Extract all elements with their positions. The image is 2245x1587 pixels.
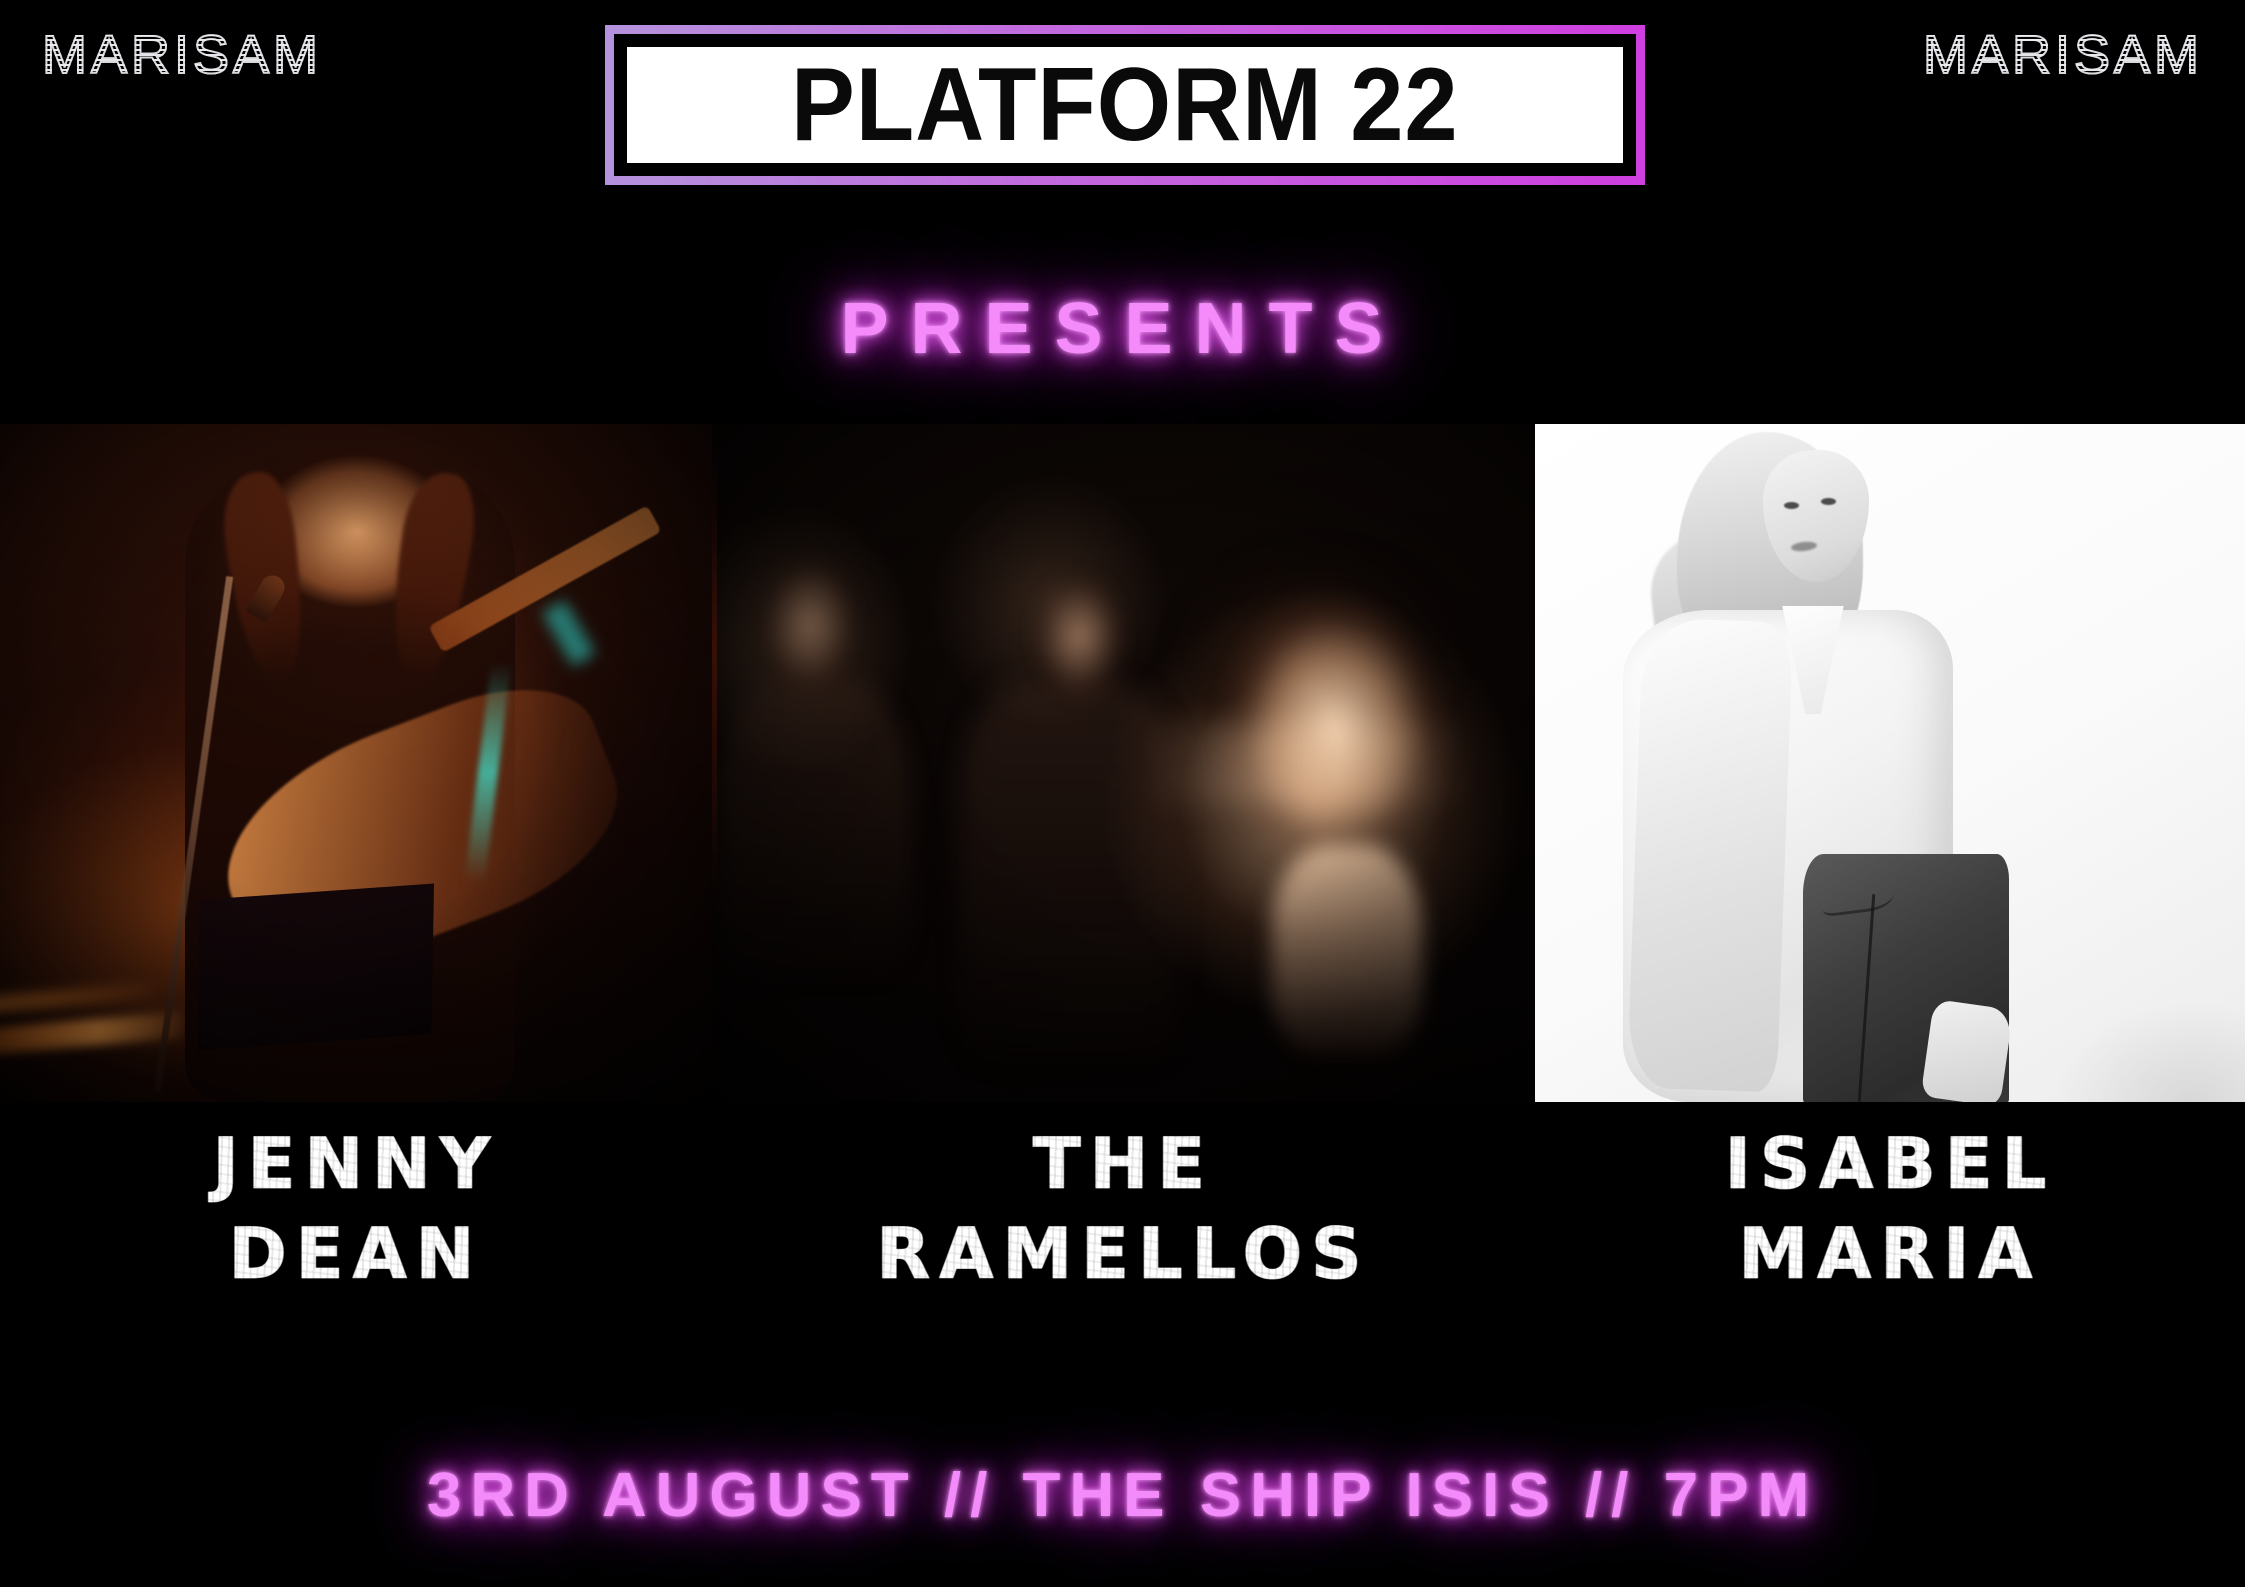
artist-name-line-2: DEAN [229, 1210, 484, 1300]
artist-photo-jenny-dean [0, 424, 712, 1102]
model-eye-left [1784, 502, 1799, 509]
title-plaque-inner: PLATFORM 22 [614, 34, 1636, 176]
watermark-left: MARISAM [42, 24, 322, 86]
artist-name-the-ramellos: THE RAMELLOS [712, 1120, 1535, 1410]
artist-name-line-1: JENNY [213, 1120, 500, 1210]
model-shirt-sleeve [1627, 618, 1793, 1093]
artist-name-line-1: THE [1033, 1120, 1214, 1210]
watermark-right: MARISAM [1923, 24, 2203, 86]
artist-name-line-2: RAMELLOS [876, 1210, 1370, 1300]
artist-photo-isabel-maria [1535, 424, 2245, 1102]
page-title: PLATFORM 22 [791, 53, 1459, 157]
artist-photo-the-ramellos [712, 424, 1535, 1102]
title-plaque: PLATFORM 22 [605, 25, 1645, 185]
artist-name-row: JENNY DEAN THE RAMELLOS ISABEL MARIA [0, 1120, 2245, 1410]
event-details: 3RD AUGUST // THE SHIP ISIS // 7PM [0, 1460, 2245, 1531]
photo-vignette [712, 424, 1535, 1102]
artist-name-line-2: MARIA [1739, 1210, 2042, 1300]
artist-name-jenny-dean: JENNY DEAN [0, 1120, 712, 1410]
artist-name-isabel-maria: ISABEL MARIA [1535, 1120, 2245, 1410]
presents-label: PRESENTS [0, 288, 2245, 370]
artist-name-line-1: ISABEL [1725, 1120, 2055, 1210]
photo-vignette [0, 424, 712, 1102]
artist-photo-strip [0, 424, 2245, 1102]
photo-floor-shadow [1975, 902, 2245, 1102]
event-poster: MARISAM MARISAM PLATFORM 22 PRESENTS [0, 0, 2245, 1587]
model-eye-right [1821, 498, 1836, 505]
